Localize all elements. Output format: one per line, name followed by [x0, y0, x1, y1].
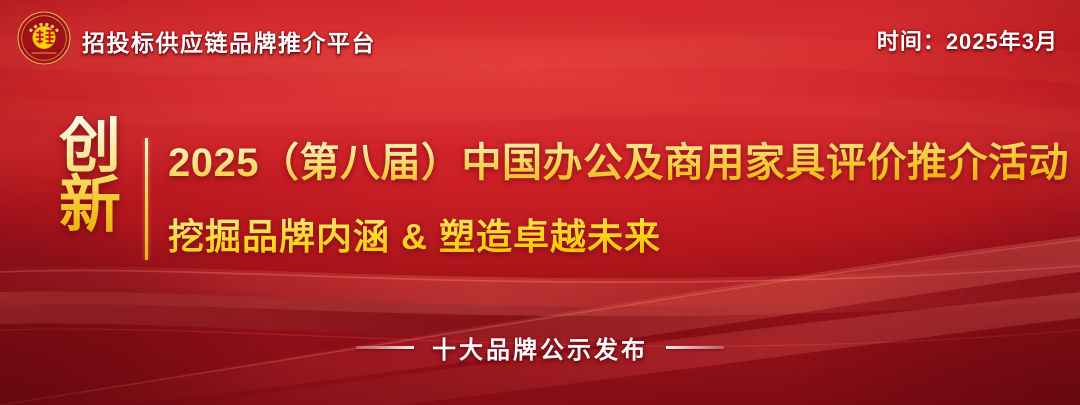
- footer-strip: 十大品牌公示发布: [0, 330, 1080, 365]
- keyword-char-1: 创: [48, 116, 132, 176]
- time-label: 时间：2025年3月: [877, 24, 1058, 56]
- right-dash-decoration: [666, 346, 724, 349]
- gold-vertical-divider: [145, 138, 148, 260]
- circular-seal-logo-icon[interactable]: [16, 10, 72, 66]
- footer-announcement-text: 十大品牌公示发布: [432, 330, 648, 365]
- main-headline: 2025（第八届）中国办公及商用家具评价推介活动: [168, 130, 1069, 188]
- keyword-char-2: 新: [48, 176, 132, 236]
- site-title: 招投标供应链品牌推介平台: [82, 24, 376, 58]
- banner-main: 创 新 2025（第八届）中国办公及商用家具评价推介活动 挖掘品牌内涵 & 塑造…: [0, 112, 1080, 272]
- banner-header: 招投标供应链品牌推介平台 时间：2025年3月: [0, 0, 1080, 76]
- left-dash-decoration: [356, 346, 414, 349]
- sub-headline: 挖掘品牌内涵 & 塑造卓越未来: [168, 208, 661, 260]
- keyword-chuangxin: 创 新: [48, 116, 132, 236]
- promo-banner: 招投标供应链品牌推介平台 时间：2025年3月 创 新 2025（第八届）中国办…: [0, 0, 1080, 405]
- headline-row: 创 新 2025（第八届）中国办公及商用家具评价推介活动 挖掘品牌内涵 & 塑造…: [0, 112, 1080, 272]
